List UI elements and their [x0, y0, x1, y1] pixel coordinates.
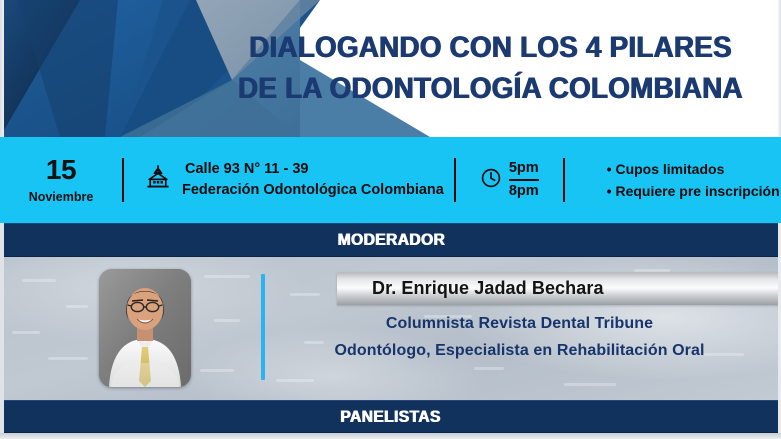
event-poster: DIALOGANDO CON LOS 4 PILARES DE LA ODONT…	[0, 0, 781, 439]
section-header-moderador-label: MODERADOR	[337, 230, 445, 250]
event-info-bar: 15 Noviembre	[0, 137, 781, 223]
title-line-2: DE LA ODONTOLOGÍA COLOMBIANA	[238, 71, 743, 108]
event-date: 15 Noviembre	[0, 156, 122, 204]
credential-item: Odontólogo, Especialista en Rehabilitaci…	[334, 342, 704, 360]
venue-organization: Federación Odontológica Colombiana	[182, 180, 444, 201]
clock-icon	[480, 167, 502, 194]
moderator-name-banner: Dr. Enrique Jadad Bechara	[337, 272, 781, 305]
title-line-1: DIALOGANDO CON LOS 4 PILARES	[249, 30, 732, 67]
school-building-icon	[143, 163, 173, 198]
section-header-panelistas-label: PANELISTAS	[341, 407, 441, 427]
section-header-panelistas: PANELISTAS	[0, 400, 781, 433]
moderator-credentials: Columnista Revista Dental Tribune Odontó…	[254, 315, 781, 360]
event-time: 5pm 8pm	[456, 159, 563, 201]
venue-address: Calle 93 N° 11 - 39	[182, 159, 444, 180]
poster-header: DIALOGANDO CON LOS 4 PILARES DE LA ODONT…	[0, 0, 781, 137]
credential-item: Columnista Revista Dental Tribune	[386, 315, 653, 333]
moderator-photo	[99, 269, 191, 387]
note-item: • Requiere pre inscripción	[607, 180, 781, 202]
event-day: 15	[46, 156, 76, 184]
moderator-name: Dr. Enrique Jadad Bechara	[337, 278, 604, 299]
event-venue: Calle 93 N° 11 - 39 Federación Odontológ…	[124, 159, 454, 201]
time-end: 8pm	[509, 179, 539, 202]
note-item: • Cupos limitados	[607, 158, 781, 180]
time-start: 5pm	[509, 159, 539, 179]
moderator-body: Dr. Enrique Jadad Bechara Columnista Rev…	[0, 257, 781, 400]
event-month: Noviembre	[29, 190, 94, 204]
header-left-edge	[0, 0, 4, 137]
poster-title: DIALOGANDO CON LOS 4 PILARES DE LA ODONT…	[205, 0, 775, 137]
section-header-moderador: MODERADOR	[0, 223, 781, 257]
footer-edge	[0, 433, 781, 439]
event-notes: • Cupos limitados • Requiere pre inscrip…	[565, 158, 781, 202]
